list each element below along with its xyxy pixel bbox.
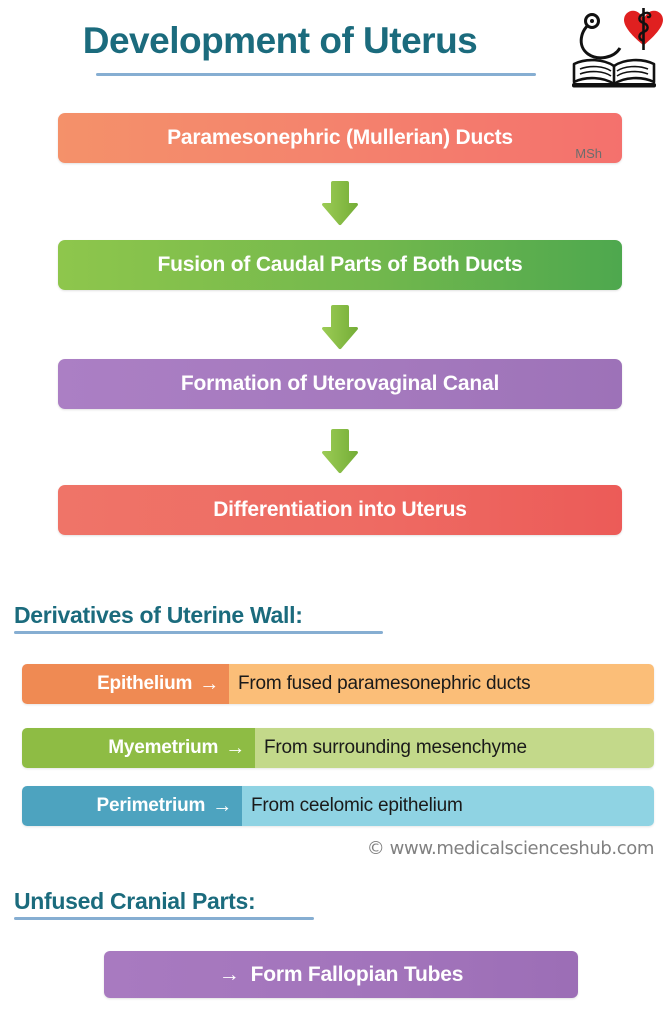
flow-step-label: Fusion of Caudal Parts of Both Ducts (158, 253, 523, 277)
table-row: Perimetrium → From ceelomic epithelium (22, 786, 654, 826)
flow-step-label: Differentiation into Uterus (213, 498, 467, 522)
watermark-msh: MSh (575, 146, 602, 161)
fallopian-tubes-label: Form Fallopian Tubes (251, 963, 464, 987)
copyright-notice: © www.medicalscienceshub.com (367, 838, 654, 859)
derivative-label-epithelium: Epithelium → (22, 664, 229, 704)
fallopian-tubes-box: → Form Fallopian Tubes (104, 951, 578, 998)
derivative-value-perimetrium: From ceelomic epithelium (242, 786, 654, 826)
derivative-label-text: Perimetrium (97, 795, 206, 817)
heart-caduceus-stethoscope-book-logo (566, 6, 666, 94)
down-arrow-icon (318, 427, 362, 475)
table-row: Myemetrium → From surrounding mesenchyme (22, 728, 654, 768)
title-underline (96, 73, 536, 76)
flow-step-uterovaginal-canal: Formation of Uterovaginal Canal (58, 359, 622, 409)
flow-step-differentiation-uterus: Differentiation into Uterus (58, 485, 622, 535)
flow-step-label: Formation of Uterovaginal Canal (181, 372, 499, 396)
right-arrow-icon: → (225, 738, 245, 758)
right-arrow-icon: → (199, 674, 219, 694)
derivative-label-text: Myemetrium (108, 737, 218, 759)
page-header: Development of Uterus (0, 0, 670, 100)
flow-step-label: Paramesonephric (Mullerian) Ducts (167, 126, 513, 150)
down-arrow-icon (318, 179, 362, 227)
derivatives-heading-underline (14, 631, 383, 634)
derivative-value-epithelium: From fused paramesonephric ducts (229, 664, 654, 704)
page-title: Development of Uterus (0, 20, 560, 62)
right-arrow-icon: → (219, 963, 240, 987)
right-arrow-icon: → (212, 796, 232, 816)
derivative-value-myemetrium: From surrounding mesenchyme (255, 728, 654, 768)
derivatives-heading: Derivatives of Uterine Wall: (14, 602, 303, 629)
flow-step-paramesonephric-ducts: Paramesonephric (Mullerian) Ducts MSh (58, 113, 622, 163)
table-row: Epithelium → From fused paramesonephric … (22, 664, 654, 704)
derivative-label-text: Epithelium (97, 673, 192, 695)
flow-step-fusion-caudal-parts: Fusion of Caudal Parts of Both Ducts (58, 240, 622, 290)
down-arrow-icon (318, 303, 362, 351)
derivative-label-perimetrium: Perimetrium → (22, 786, 242, 826)
unfused-heading: Unfused Cranial Parts: (14, 888, 255, 915)
derivative-label-myemetrium: Myemetrium → (22, 728, 255, 768)
unfused-heading-underline (14, 917, 314, 920)
